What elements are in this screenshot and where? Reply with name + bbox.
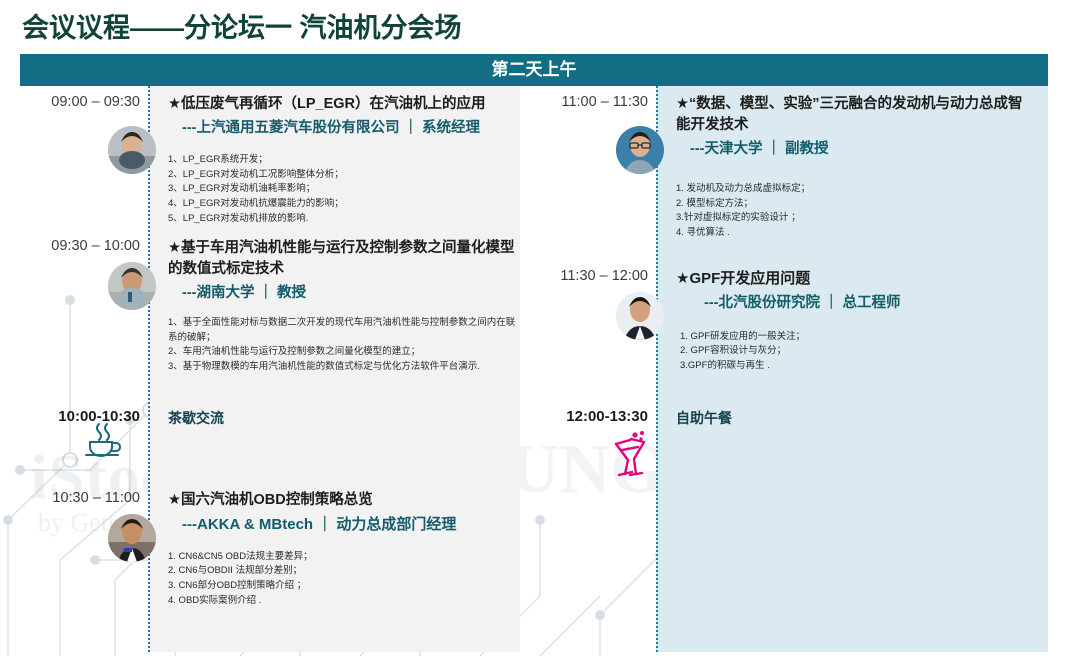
session-time: 09:00 – 09:30	[20, 94, 140, 110]
break-label: 自助午餐	[676, 408, 732, 428]
right-column: 11:00 – 11:30 ★“数据、模型、实验”三元融合的发动机与动力总成智能…	[548, 86, 1048, 652]
session-body: ★“数据、模型、实验”三元融合的发动机与动力总成智能开发技术 ---天津大学 ｜…	[676, 94, 1036, 241]
session-time: 09:30 – 10:00	[20, 238, 140, 254]
session-affiliation: ---AKKA & MBtech ｜ 动力总成部门经理	[182, 514, 518, 536]
bullet-item: 3.GPF的积碳与再生 .	[680, 359, 1036, 374]
bullet-item: 1. CN6&CN5 OBD法规主要差异；	[168, 550, 518, 565]
session-time: 12:00-13:30	[548, 408, 648, 425]
day-banner: 第二天上午	[20, 54, 1048, 86]
session-bullets: 1. CN6&CN5 OBD法规主要差异； 2. CN6与OBDII 法规部分差…	[168, 550, 518, 609]
session-bullets: 1. GPF研发应用的一般关注； 2. GPF容积设计与灰分； 3.GPF的积碳…	[680, 330, 1036, 374]
session-affiliation: ---天津大学 ｜ 副教授	[690, 139, 1036, 160]
bullet-item: 4、LP_EGR对发动机抗爆震能力的影响；	[168, 197, 518, 212]
champagne-toast-icon	[608, 430, 654, 483]
speaker-avatar	[616, 126, 664, 174]
bullet-item: 4. 寻优算法 .	[676, 226, 1036, 241]
speaker-avatar	[108, 262, 156, 310]
left-column-divider	[148, 86, 150, 652]
bullet-item: 2. GPF容积设计与灰分；	[680, 344, 1036, 359]
session-time: 11:00 – 11:30	[548, 94, 648, 110]
right-column-divider	[656, 86, 658, 652]
break-label: 茶歇交流	[168, 408, 224, 428]
bullet-item: 3、LP_EGR对发动机油耗率影响；	[168, 182, 518, 197]
bullet-item: 2、车用汽油机性能与运行及控制参数之间量化模型的建立；	[168, 345, 518, 360]
bullet-item: 3. CN6部分OBD控制策略介绍 ；	[168, 579, 518, 594]
session-title: ★GPF开发应用问题	[676, 268, 1036, 290]
session-title: ★基于车用汽油机性能与运行及控制参数之间量化模型的数值式标定技术	[168, 238, 518, 280]
session-time: 11:30 – 12:00	[548, 268, 648, 284]
page-title: 会议议程——分论坛一 汽油机分会场	[22, 6, 462, 45]
bullet-item: 3、基于物理数模的车用汽油机性能的数值式标定与优化方法软件平台演示.	[168, 360, 518, 375]
bullet-item: 1、基于全面性能对标与数据二次开发的现代车用汽油机性能与控制参数之间内在联系的破…	[168, 316, 518, 345]
bullet-item: 1. 发动机及动力总成虚拟标定；	[676, 182, 1036, 197]
session-affiliation: ---北汽股份研究院 ｜ 总工程师	[704, 293, 1036, 314]
session-bullets: 1、基于全面性能对标与数据二次开发的现代车用汽油机性能与控制参数之间内在联系的破…	[168, 316, 518, 375]
session-body: ★基于车用汽油机性能与运行及控制参数之间量化模型的数值式标定技术 ---湖南大学…	[168, 238, 518, 375]
speaker-avatar	[616, 292, 664, 340]
speaker-avatar	[108, 126, 156, 174]
session-affiliation: ---湖南大学 ｜ 教授	[182, 283, 518, 304]
bullet-item: 5、LP_EGR对发动机排放的影响.	[168, 212, 518, 227]
bullet-item: 2、LP_EGR对发动机工况影响整体分析；	[168, 168, 518, 183]
coffee-cup-icon	[82, 420, 126, 463]
bullet-item: 4. OBD实际案例介绍 .	[168, 594, 518, 609]
session-title: ★低压废气再循环（LP_EGR）在汽油机上的应用	[168, 94, 518, 115]
bullet-item: 1、LP_EGR系统开发；	[168, 153, 518, 168]
session-time: 10:30 – 11:00	[20, 490, 140, 506]
bullet-item: 1. GPF研发应用的一般关注；	[680, 330, 1036, 345]
session-affiliation: ---上汽通用五菱汽车股份有限公司 ｜ 系统经理	[182, 118, 518, 139]
session-body: ★低压废气再循环（LP_EGR）在汽油机上的应用 ---上汽通用五菱汽车股份有限…	[168, 94, 518, 227]
session-title: ★“数据、模型、实验”三元融合的发动机与动力总成智能开发技术	[676, 94, 1036, 136]
day-banner-label: 第二天上午	[20, 54, 1048, 86]
bullet-item: 2. 模型标定方法；	[676, 197, 1036, 212]
session-title: ★国六汽油机OBD控制策略总览	[168, 490, 518, 511]
bullet-item: 3.针对虚拟标定的实验设计 ；	[676, 211, 1036, 226]
speaker-avatar	[108, 514, 156, 562]
session-body: ★GPF开发应用问题 ---北汽股份研究院 ｜ 总工程师 1. GPF研发应用的…	[676, 268, 1036, 374]
left-column: 09:00 – 09:30 ★低压废气再循环（LP_EGR）在汽油机上的应用 -…	[20, 86, 520, 652]
session-body: ★国六汽油机OBD控制策略总览 ---AKKA & MBtech ｜ 动力总成部…	[168, 490, 518, 609]
bullet-item: 2. CN6与OBDII 法规部分差别；	[168, 564, 518, 579]
session-bullets: 1. 发动机及动力总成虚拟标定； 2. 模型标定方法； 3.针对虚拟标定的实验设…	[676, 182, 1036, 241]
session-bullets: 1、LP_EGR系统开发； 2、LP_EGR对发动机工况影响整体分析； 3、LP…	[168, 153, 518, 227]
